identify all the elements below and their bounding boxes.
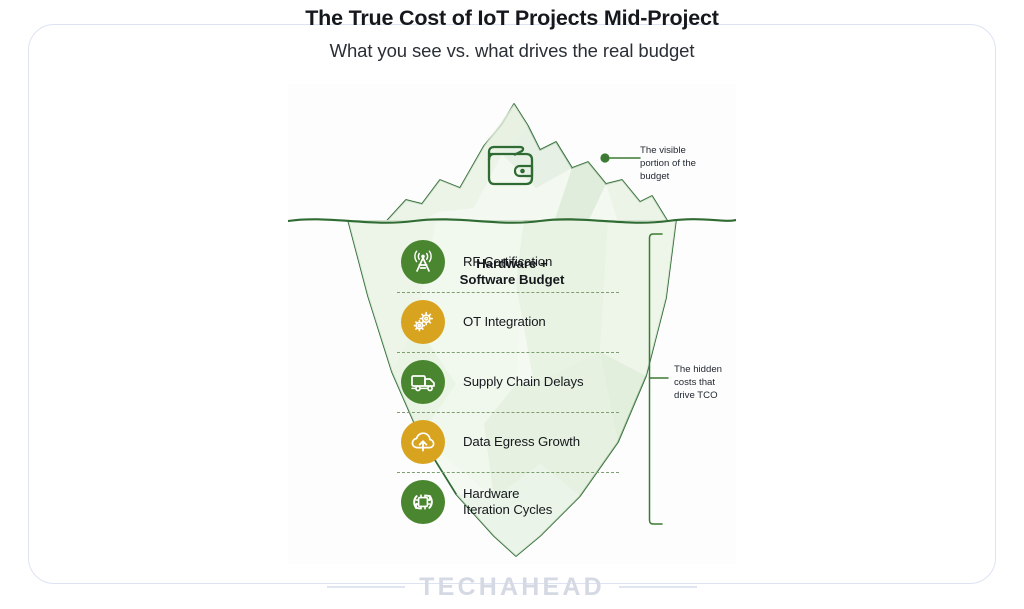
antenna-tower-icon <box>401 240 445 284</box>
hidden-costs-bracket <box>648 232 676 528</box>
chip-refresh-icon <box>401 480 445 524</box>
anno-hidden-line3: drive TCO <box>674 390 744 403</box>
visible-annotation-text: The visible portion of the budget <box>640 145 720 183</box>
brand-wordmark: TECHAHEAD <box>419 573 605 602</box>
list-item-label: RF Certification <box>463 254 552 270</box>
page-subtitle: What you see vs. what drives the real bu… <box>0 31 1024 62</box>
list-item-label: Hardware Iteration Cycles <box>463 486 552 518</box>
list-item-label-line1: Hardware <box>463 486 552 502</box>
anno-visible-line2: portion of the <box>640 158 720 171</box>
infographic-canvas: The True Cost of IoT Projects Mid-Projec… <box>0 0 1024 609</box>
anno-hidden-line2: costs that <box>674 377 744 390</box>
footer-rule-right <box>619 586 697 588</box>
list-item-label-line2: Iteration Cycles <box>463 502 552 518</box>
page-title: The True Cost of IoT Projects Mid-Projec… <box>0 0 1024 31</box>
cloud-upload-icon <box>401 420 445 464</box>
anno-visible-line3: budget <box>640 171 720 184</box>
heading-block: The True Cost of IoT Projects Mid-Projec… <box>0 0 1024 62</box>
list-item-label: Data Egress Growth <box>463 434 580 450</box>
wallet-icon <box>480 136 544 192</box>
visible-annotation-leader <box>598 150 642 166</box>
anno-hidden-line1: The hidden <box>674 364 744 377</box>
gears-icon <box>401 300 445 344</box>
footer: TECHAHEAD <box>0 570 1024 604</box>
anno-visible-line1: The visible <box>640 145 720 158</box>
list-item-label: OT Integration <box>463 314 546 330</box>
truck-icon <box>401 360 445 404</box>
footer-rule-left <box>327 586 405 588</box>
hidden-annotation-text: The hidden costs that drive TCO <box>674 364 744 402</box>
list-item-label: Supply Chain Delays <box>463 374 584 390</box>
